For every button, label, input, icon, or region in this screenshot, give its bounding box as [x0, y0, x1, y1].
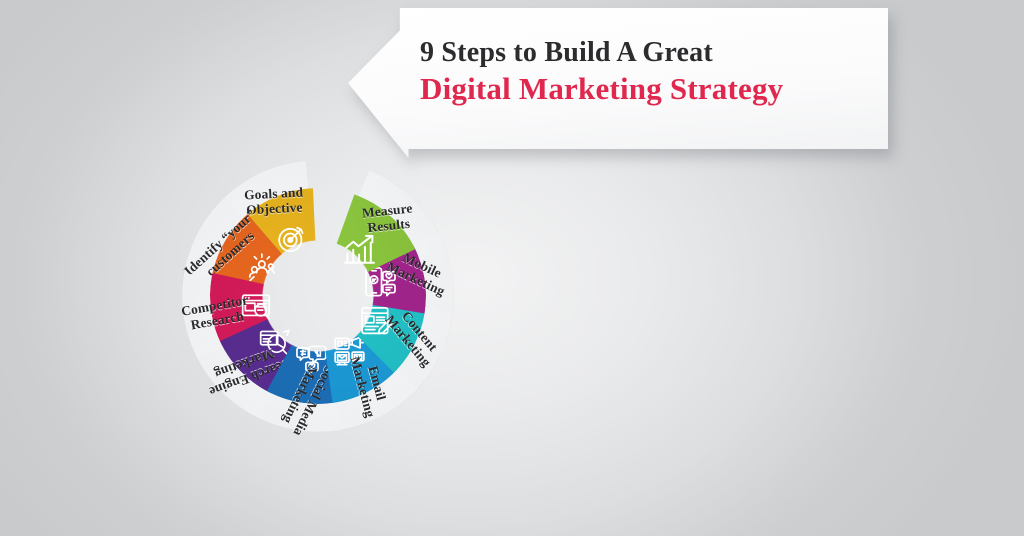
- banner-headline: 9 Steps to Build A Great: [420, 38, 874, 69]
- competitor-window-icon: [239, 290, 273, 324]
- infographic-canvas: Goals and ObjectiveIdentify “your” custo…: [0, 0, 1024, 536]
- audience-research-icon: [245, 250, 279, 284]
- banner-text: 9 Steps to Build A Great Digital Marketi…: [420, 38, 874, 107]
- banner-subheadline: Digital Marketing Strategy: [420, 72, 874, 107]
- target-icon: [274, 222, 308, 256]
- social-media-icon: [294, 342, 328, 376]
- growth-chart-icon: [343, 232, 377, 266]
- content-document-icon: [359, 304, 393, 338]
- title-banner: 9 Steps to Build A Great Digital Marketi…: [348, 8, 888, 158]
